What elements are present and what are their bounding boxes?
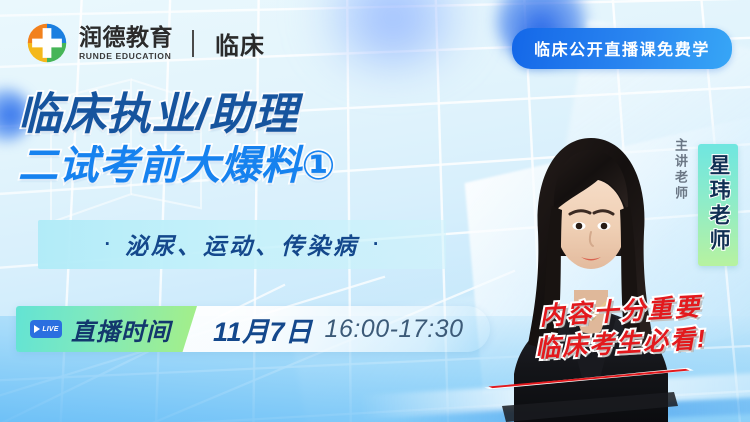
brand-category-label: 临床 [215,26,265,61]
free-live-course-badge[interactable]: 临床公开直播课免费学 [512,28,732,69]
subject-topics-bar: · 泌尿、运动、传染病 · [38,220,446,269]
red-callout-block: 内容十分重要 临床考生必看! [532,291,704,365]
subtitle-dot-left: · [105,235,111,254]
live-word-label: LIVE [42,326,58,333]
live-label-group: LIVE 直播时间 [16,306,197,352]
live-time-label: 直播时间 [71,312,171,347]
live-course-banner: 润德教育 RUNDE EDUCATION 临床 临床公开直播课免费学 临床执业/… [0,0,750,422]
instructor-role-label: 主讲老师 [671,138,690,202]
headline-line-1: 临床执业/助理 [18,92,336,139]
play-triangle-icon [34,325,40,333]
instructor-name-ribbon: 星玮老师 [698,144,738,266]
headline-block: 临床执业/助理 二试考前大爆料① [18,92,336,187]
brand-name-cn: 润德教育 [79,26,173,49]
brand-name-en: RUNDE EDUCATION [79,52,173,61]
subject-topics-text: 泌尿、运动、传染病 [125,227,359,261]
live-play-badge: LIVE [30,320,62,338]
brand-logo-row[interactable]: 润德教育 RUNDE EDUCATION 临床 [26,22,265,64]
instructor-name-text: 星玮老师 [703,154,733,254]
live-schedule-bar: LIVE 直播时间 11月7日 16:00-17:30 [16,306,490,352]
runde-cross-circle-logo [26,22,68,64]
brand-text-block: 润德教育 RUNDE EDUCATION [79,26,173,61]
live-time-range-value: 16:00-17:30 [325,315,464,344]
headline-line-2: 二试考前大爆料① [18,145,336,187]
brand-divider [192,30,194,57]
live-date-value: 11月7日 [213,310,313,349]
subtitle-dot-right: · [373,235,379,254]
